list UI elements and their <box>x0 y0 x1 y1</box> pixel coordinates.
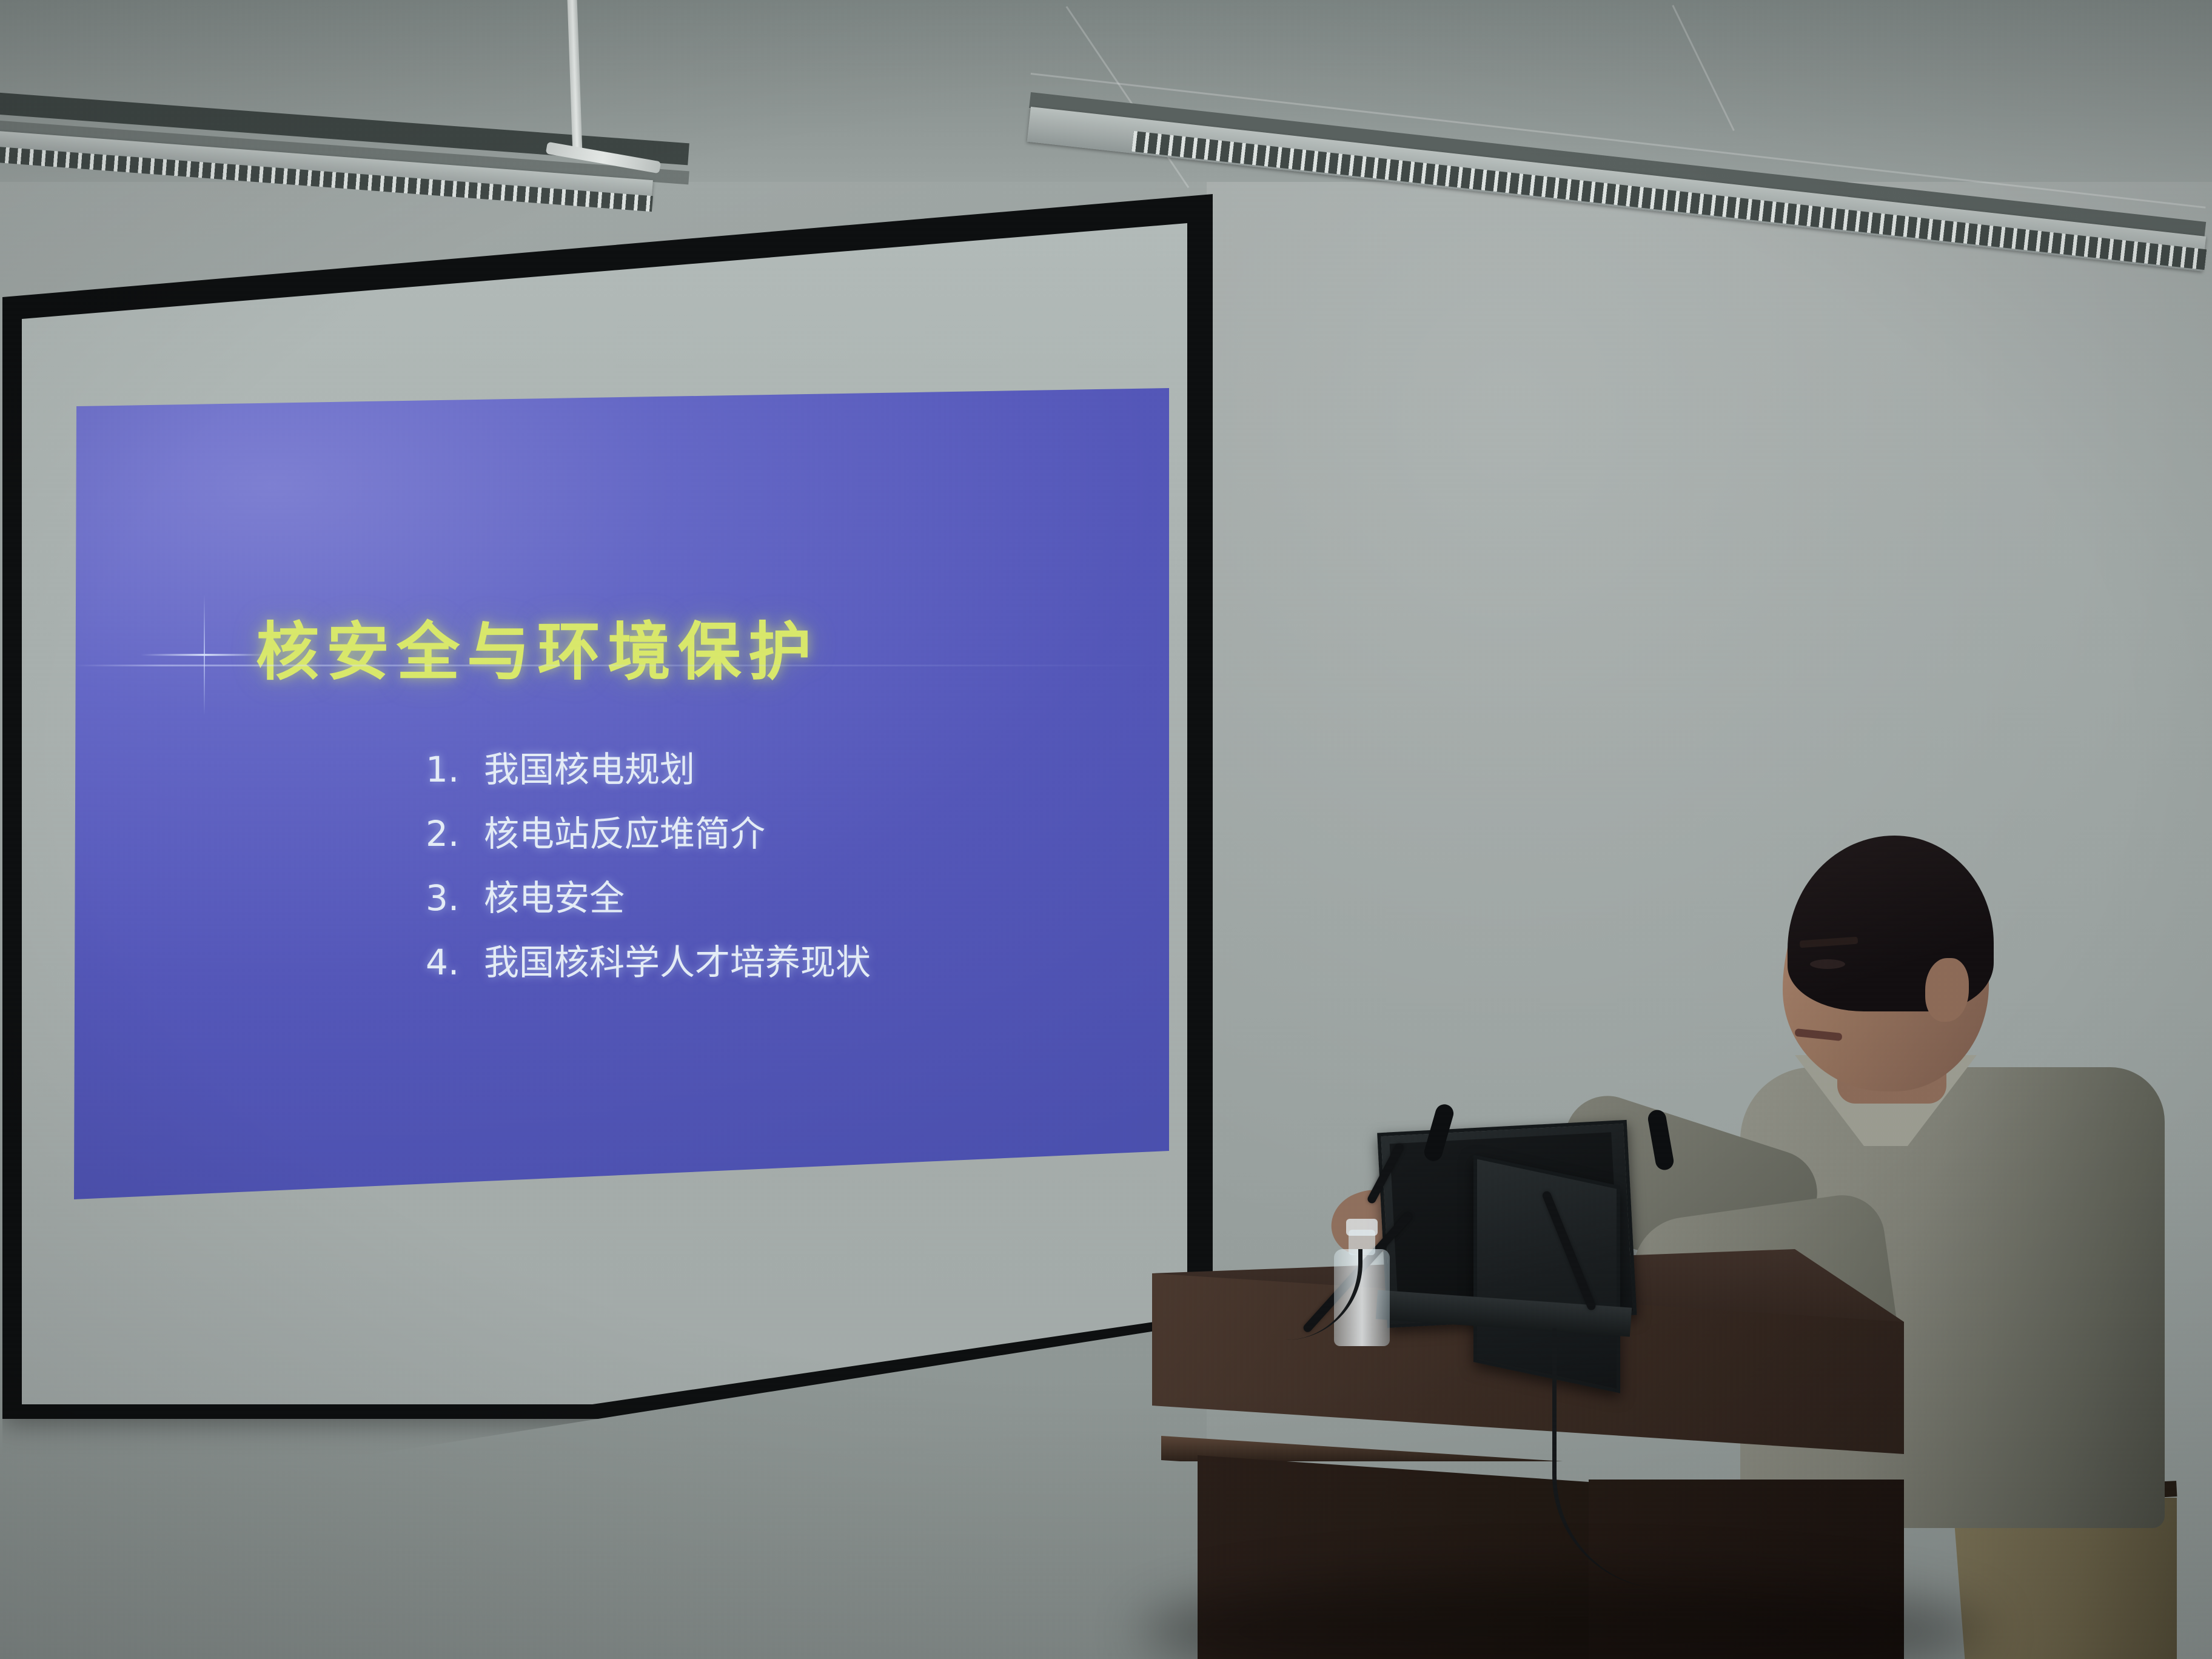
slide-title-rule <box>74 665 1165 666</box>
projected-slide: 核安全与环境保护 1. 我国核电规划 2. 核电站反应堆简介 3. 核电安全 4… <box>74 388 1171 1201</box>
list-item: 2. 核电站反应堆简介 <box>426 816 871 851</box>
water-bottle-cap[interactable] <box>1346 1219 1378 1236</box>
list-item-label: 我国核电规划 <box>484 752 695 787</box>
slide-sparkle-decoration <box>141 594 268 716</box>
list-item-number: 3. <box>426 880 484 916</box>
list-item-number: 2. <box>426 816 484 851</box>
photo-scene: 核安全与环境保护 1. 我国核电规划 2. 核电站反应堆简介 3. 核电安全 4… <box>0 0 2212 1659</box>
presenter-eye <box>1810 959 1845 969</box>
slide-agenda-list: 1. 我国核电规划 2. 核电站反应堆简介 3. 核电安全 4. 我国核科学人才… <box>426 752 871 1009</box>
list-item-number: 4. <box>426 945 484 980</box>
list-item-label: 核电安全 <box>484 880 625 916</box>
list-item-label: 核电站反应堆简介 <box>484 816 765 851</box>
presenter-ear <box>1925 958 1969 1022</box>
list-item-label: 我国核科学人才培养现状 <box>484 945 871 980</box>
slide-title: 核安全与环境保护 <box>256 600 819 692</box>
list-item-number: 1. <box>426 752 484 787</box>
list-item: 3. 核电安全 <box>426 880 871 916</box>
list-item: 1. 我国核电规划 <box>426 752 871 787</box>
list-item: 4. 我国核科学人才培养现状 <box>426 945 871 980</box>
